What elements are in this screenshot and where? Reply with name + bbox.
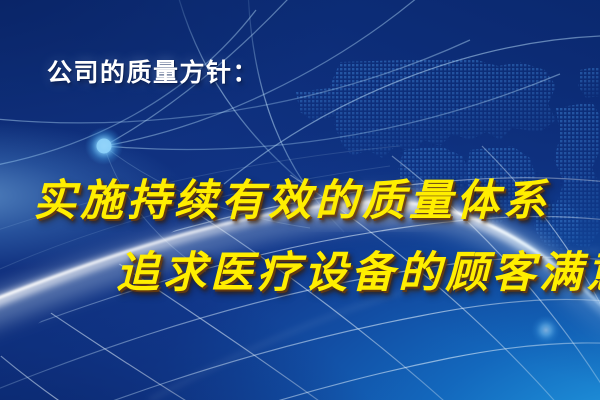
quality-policy-slide: 公司的质量方针： 实施持续有效的质量体系 追求医疗设备的顾客满意 [0, 0, 600, 400]
policy-line-1: 实施持续有效的质量体系 [33, 166, 550, 228]
policy-line-2: 追求医疗设备的顾客满意 [116, 238, 600, 300]
page-title: 公司的质量方针： [47, 53, 259, 89]
